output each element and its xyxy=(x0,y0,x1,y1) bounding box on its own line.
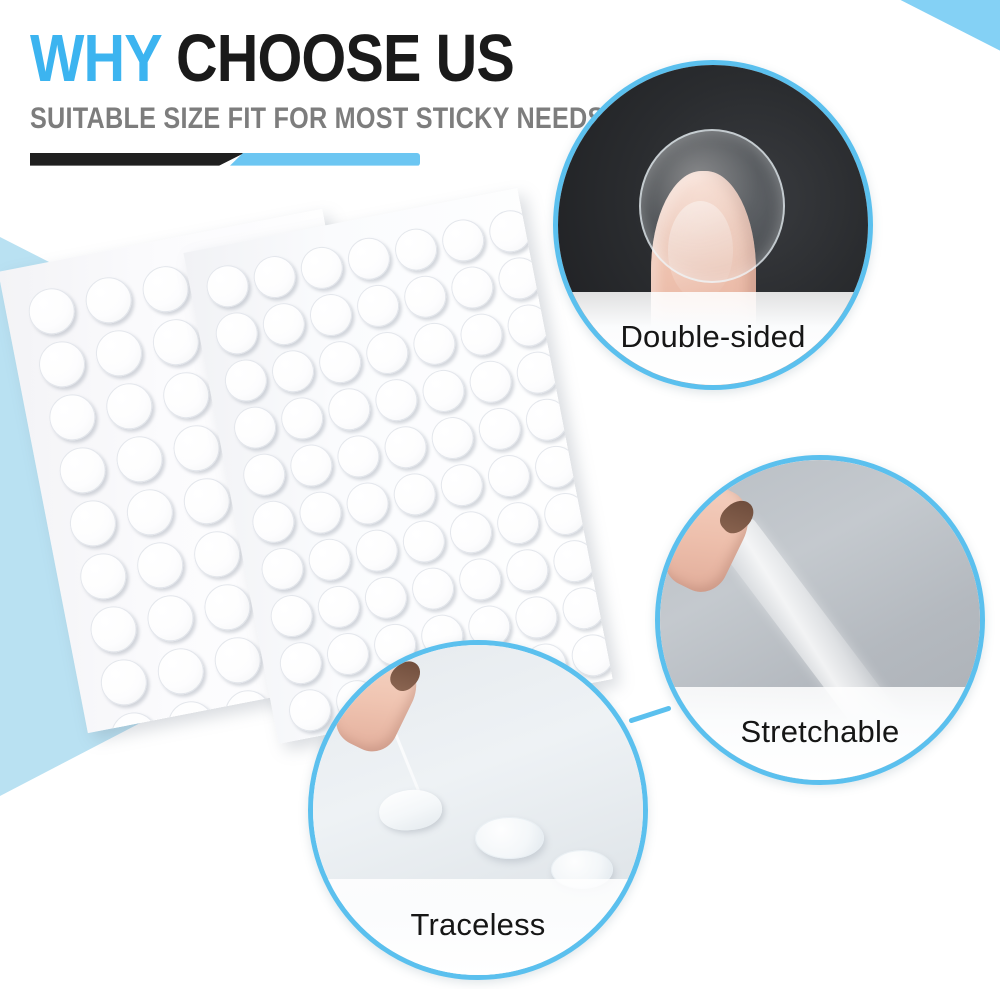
adhesive-dot xyxy=(212,309,261,358)
adhesive-dot xyxy=(170,421,224,475)
adhesive-dot xyxy=(419,366,468,415)
peeling-finger-shape xyxy=(327,643,427,759)
callout-double-sided[interactable]: Double-sided xyxy=(553,60,873,390)
clear-adhesive-dot xyxy=(639,129,786,283)
adhesive-dot xyxy=(203,262,252,311)
adhesive-dot xyxy=(401,272,450,321)
adhesive-dot xyxy=(437,461,486,510)
adhesive-dot xyxy=(344,234,393,283)
adhesive-dot xyxy=(457,310,506,359)
adhesive-dot xyxy=(408,564,457,613)
adhesive-dot xyxy=(154,644,208,698)
adhesive-dot xyxy=(381,423,430,472)
divider-dark-segment xyxy=(30,153,245,166)
adhesive-dot xyxy=(249,497,298,546)
adhesive-dot xyxy=(35,337,89,391)
label-band-traceless: Traceless xyxy=(313,879,643,975)
adhesive-dot xyxy=(475,404,524,453)
label-band-stretchable: Stretchable xyxy=(660,687,980,780)
page-title: WHY CHOOSE US xyxy=(30,28,563,90)
adhesive-dot xyxy=(259,300,308,349)
adhesive-dot xyxy=(149,315,203,369)
adhesive-dot xyxy=(334,432,383,481)
adhesive-dot xyxy=(133,538,187,592)
adhesive-dot xyxy=(363,328,412,377)
adhesive-dot xyxy=(258,544,307,593)
adhesive-dot xyxy=(484,451,533,500)
adhesive-dot xyxy=(190,527,244,581)
adhesive-dot xyxy=(278,394,327,443)
adhesive-dot xyxy=(240,450,289,499)
adhesive-dot xyxy=(230,403,279,452)
callout-label-stretchable: Stretchable xyxy=(740,714,899,750)
adhesive-dot xyxy=(372,375,421,424)
peeled-dot-shape xyxy=(377,787,443,833)
adhesive-dot xyxy=(144,591,198,645)
adhesive-dot xyxy=(66,496,120,550)
adhesive-dot xyxy=(45,390,99,444)
header-block: WHY CHOOSE US SUITABLE SIZE FIT FOR MOST… xyxy=(30,28,650,166)
adhesive-dot xyxy=(410,319,459,368)
page-subtitle: SUITABLE SIZE FIT FOR MOST STICKY NEEDS xyxy=(30,102,551,136)
adhesive-dot xyxy=(296,488,345,537)
title-rest: CHOOSE US xyxy=(176,21,514,96)
adhesive-dot xyxy=(139,262,193,316)
adhesive-dot xyxy=(314,582,363,631)
adhesive-dot xyxy=(399,517,448,566)
divider-bar xyxy=(30,153,420,166)
adhesive-dot xyxy=(97,655,151,709)
infographic-canvas: WHY CHOOSE US SUITABLE SIZE FIT FOR MOST… xyxy=(0,0,1000,989)
adhesive-dot xyxy=(361,573,410,622)
adhesive-dot xyxy=(305,535,354,584)
adhesive-dot xyxy=(92,326,146,380)
adhesive-dot xyxy=(56,443,110,497)
adhesive-dot xyxy=(297,243,346,292)
adhesive-dot xyxy=(123,485,177,539)
adhesive-dot xyxy=(87,602,141,656)
adhesive-dot xyxy=(268,347,317,396)
resting-dot-shape xyxy=(475,817,544,860)
adhesive-dot xyxy=(353,281,402,330)
adhesive-dot xyxy=(102,379,156,433)
adhesive-dot xyxy=(267,591,316,640)
adhesive-dot xyxy=(456,555,505,604)
adhesive-dot xyxy=(221,356,270,405)
adhesive-dot xyxy=(25,284,79,338)
callout-traceless[interactable]: Traceless xyxy=(308,640,648,980)
adhesive-dot xyxy=(325,385,374,434)
divider-blue-segment xyxy=(230,153,420,166)
callout-label-double-sided: Double-sided xyxy=(620,319,805,355)
adhesive-dot xyxy=(82,273,136,327)
adhesive-dot xyxy=(493,499,542,548)
adhesive-dot xyxy=(306,290,355,339)
adhesive-dot xyxy=(287,441,336,490)
adhesive-dot xyxy=(391,225,440,274)
adhesive-dot xyxy=(466,357,515,406)
adhesive-dot xyxy=(428,413,477,462)
adhesive-dot xyxy=(343,479,392,528)
adhesive-dot xyxy=(448,263,497,312)
adhesive-dot xyxy=(159,368,213,422)
title-highlight: WHY xyxy=(30,21,161,96)
adhesive-dot xyxy=(180,474,234,528)
adhesive-dot xyxy=(446,508,495,557)
adhesive-dot xyxy=(250,252,299,301)
fingernail-shape xyxy=(385,655,425,695)
callout-stretchable[interactable]: Stretchable xyxy=(655,455,985,785)
callout-label-traceless: Traceless xyxy=(410,907,545,943)
adhesive-dot xyxy=(512,593,561,642)
adhesive-dot xyxy=(503,546,552,595)
adhesive-dot xyxy=(113,432,167,486)
adhesive-dot xyxy=(390,470,439,519)
adhesive-dot xyxy=(352,526,401,575)
adhesive-dot xyxy=(211,633,265,687)
adhesive-dot xyxy=(439,216,488,265)
adhesive-dot xyxy=(315,338,364,387)
adhesive-dot xyxy=(76,549,130,603)
label-band-double-sided: Double-sided xyxy=(558,292,868,385)
adhesive-dot xyxy=(200,580,254,634)
